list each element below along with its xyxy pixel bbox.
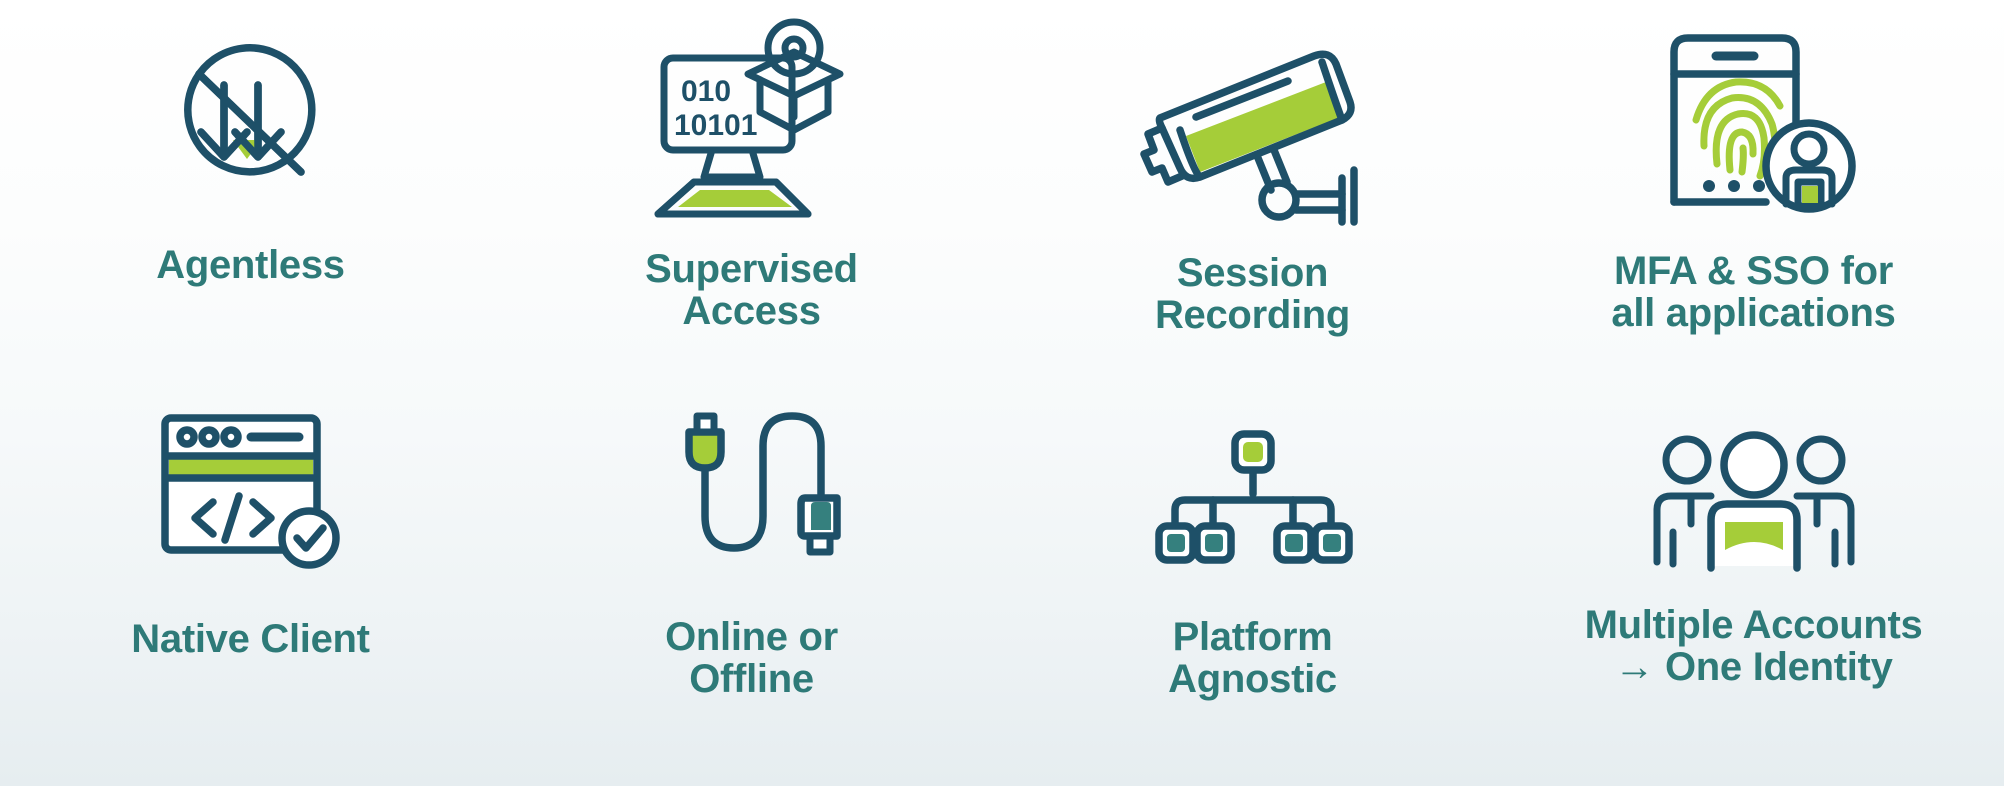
monitor-binary-package-icon: 010 10101 [642, 22, 862, 222]
feature-label-agentless: Agentless [156, 244, 344, 286]
feature-label-native-client: Native Client [131, 618, 369, 660]
feature-item-platform-agnostic[interactable]: Platform Agnostic [1002, 390, 1503, 786]
feature-item-session-recording[interactable]: Session Recording [1002, 0, 1503, 390]
feature-item-native-client[interactable]: Native Client [0, 390, 501, 786]
feature-label-mfa-sso: MFA & SSO for all applications [1611, 250, 1895, 335]
security-camera-icon [1138, 22, 1368, 222]
feature-item-online-or-offline[interactable]: Online or Offline [501, 390, 1002, 786]
fingerprint-phone-identity-icon [1644, 14, 1864, 214]
hierarchy-tree-icon [1153, 408, 1353, 568]
screen-binary-line-2: 10101 [674, 109, 757, 142]
feature-item-agentless[interactable]: Agentless [0, 0, 501, 390]
feature-label-session-recording: Session Recording [1155, 252, 1350, 337]
feature-label-supervised-access: Supervised Access [645, 248, 858, 333]
feature-item-multiple-accounts[interactable]: Multiple Accounts → One Identity [1503, 390, 2004, 786]
group-of-people-icon [1649, 412, 1859, 572]
no-download-icon [151, 22, 351, 222]
feature-label-online-or-offline: Online or Offline [665, 616, 838, 701]
screen-binary-line-1: 010 [681, 75, 731, 108]
feature-item-mfa-sso[interactable]: MFA & SSO for all applications [1503, 0, 2004, 390]
feature-label-platform-agnostic: Platform Agnostic [1168, 616, 1337, 701]
usb-cable-icon [662, 408, 842, 568]
feature-label-multiple-accounts: Multiple Accounts → One Identity [1585, 604, 1923, 689]
feature-item-supervised-access[interactable]: 010 10101 Supervised Access [501, 0, 1002, 390]
browser-code-check-icon [151, 410, 351, 570]
feature-grid: Agentless 010 10101 [0, 0, 2004, 786]
